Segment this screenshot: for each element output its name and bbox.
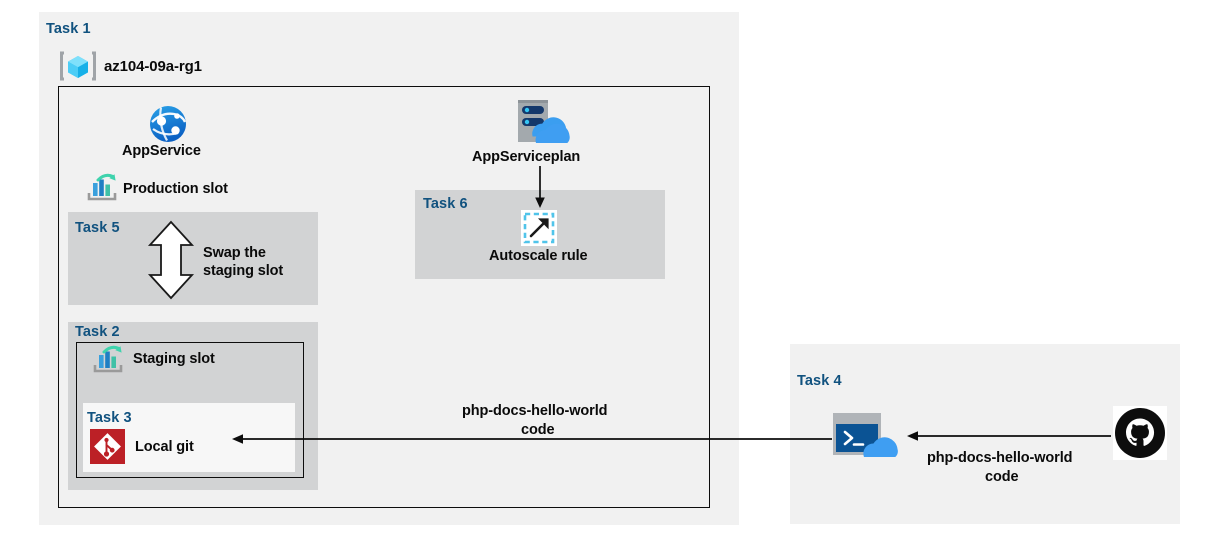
staging-slot-label: Staging slot [133,351,215,367]
autoscale-icon [521,210,557,246]
staging-slot-deployment-slot-icon [92,346,124,374]
group-task5-label: Task 5 [75,220,120,236]
diagram-canvas: Task 1 az104-09a-rg1 [0,0,1218,545]
production-slot-label: Production slot [123,181,228,197]
github-to-cloudshell-edge-label-line1: php-docs-hello-world [927,449,1072,468]
group-task6-label: Task 6 [423,196,468,212]
group-task2-label: Task 2 [75,324,120,340]
github-icon [1113,406,1167,460]
swap-label-line2: staging slot [203,262,283,281]
appservice-label: AppService [122,143,201,159]
autoscale-rule-label: Autoscale rule [489,248,588,264]
group-task1-label: Task 1 [46,21,91,37]
swap-label-line1: Swap the [203,244,266,263]
group-task4-label: Task 4 [797,373,842,389]
local-git-label: Local git [135,439,194,455]
cloud-shell-icon [831,411,901,459]
resource-group-label: az104-09a-rg1 [104,58,202,75]
app-service-plan-icon [512,98,574,146]
cloudshell-to-localgit-edge-label-line1: php-docs-hello-world [462,402,607,421]
production-slot-deployment-slot-icon [86,174,118,202]
github-to-cloudshell-edge-label-line2: code [985,468,1018,487]
group-task3-label: Task 3 [87,410,132,426]
swap-arrow-icon [145,220,197,300]
cloudshell-to-localgit-edge-label-line2: code [521,421,554,440]
appserviceplan-label: AppServiceplan [472,149,580,165]
resource-group-icon [60,50,96,82]
app-service-icon [148,104,188,144]
git-icon [90,429,125,464]
